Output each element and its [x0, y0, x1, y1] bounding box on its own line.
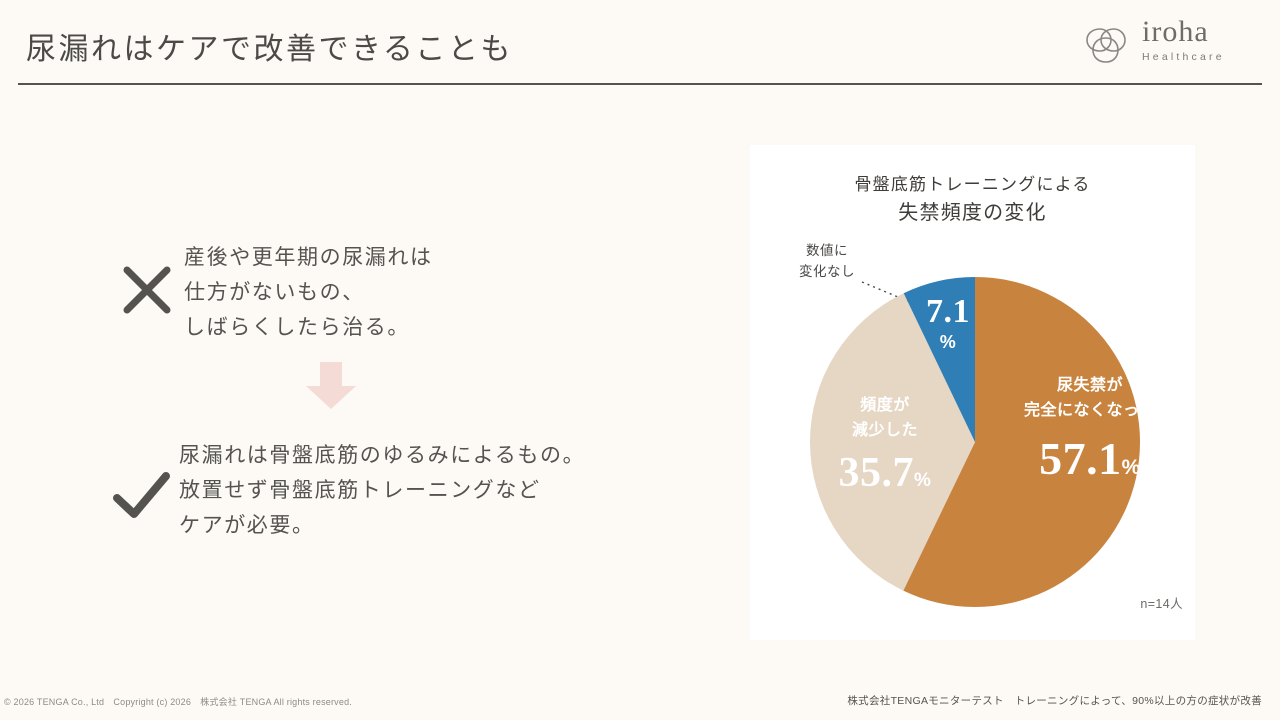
- positive-line-3: ケアが必要。: [179, 508, 585, 543]
- check-mark-icon: [105, 438, 179, 524]
- positive-line-1: 尿漏れは骨盤底筋のゆるみによるもの。: [179, 438, 585, 473]
- pie-label-blue: 7.1 %: [910, 293, 986, 353]
- arrow-down-icon: [302, 362, 360, 410]
- positive-point-block: 尿漏れは骨盤底筋のゆるみによるもの。 放置せず骨盤底筋トレーニングなど ケアが必…: [105, 438, 585, 543]
- positive-line-2: 放置せず骨盤底筋トレーニングなど: [179, 473, 585, 508]
- negative-line-1: 産後や更年期の尿漏れは: [184, 240, 433, 275]
- negative-line-2: 仕方がないもの、: [184, 275, 433, 310]
- orange-value: 57.1: [1039, 433, 1122, 484]
- page-title: 尿漏れはケアで改善できることも: [26, 24, 513, 68]
- cross-mark-icon: [110, 240, 184, 318]
- footer-source-note: 株式会社TENGAモニターテスト トレーニングによって、90%以上の方の症状が改…: [847, 693, 1262, 708]
- logo-word: iroha: [1142, 16, 1260, 48]
- blue-value: 7.1: [910, 293, 986, 331]
- title-divider: [18, 83, 1262, 85]
- negative-line-3: しばらくしたら治る。: [184, 310, 433, 345]
- negative-point-block: 産後や更年期の尿漏れは 仕方がないもの、 しばらくしたら治る。: [110, 240, 433, 345]
- beige-value: 35.7: [839, 450, 915, 496]
- negative-point-text: 産後や更年期の尿漏れは 仕方がないもの、 しばらくしたら治る。: [184, 240, 433, 345]
- orange-caption-2: 完全になくなった: [990, 398, 1190, 423]
- left-content-column: 産後や更年期の尿漏れは 仕方がないもの、 しばらくしたら治る。 尿漏れは骨盤底筋…: [0, 120, 700, 640]
- beige-caption-2: 減少した: [810, 418, 960, 443]
- orange-percent-symbol: %: [1122, 456, 1141, 479]
- logo-subtitle: Healthcare: [1142, 50, 1260, 64]
- sample-size-note: n=14人: [1140, 593, 1183, 612]
- logo-wordmark: iroha Healthcare: [1142, 16, 1260, 64]
- pie-label-beige: 頻度が 減少した 35.7%: [810, 393, 960, 507]
- blue-percent-symbol: %: [910, 331, 986, 353]
- beige-percent-symbol: %: [914, 470, 931, 491]
- beige-caption-1: 頻度が: [810, 393, 960, 418]
- slide-header: 尿漏れはケアで改善できることも iroha Healthcare: [0, 0, 1280, 84]
- brand-logo: iroha Healthcare: [1080, 16, 1260, 72]
- footer-copyright: © 2026 TENGA Co., Ltd Copyright (c) 2026…: [4, 695, 352, 708]
- chart-card: 骨盤底筋トレーニングによる 失禁頻度の変化 数値に 変化なし 尿失禁が 完全にな…: [750, 145, 1195, 640]
- positive-point-text: 尿漏れは骨盤底筋のゆるみによるもの。 放置せず骨盤底筋トレーニングなど ケアが必…: [179, 438, 585, 543]
- iroha-flower-mark-icon: [1080, 20, 1134, 70]
- orange-caption-1: 尿失禁が: [990, 373, 1190, 398]
- pie-label-orange: 尿失禁が 完全になくなった 57.1%: [990, 373, 1190, 496]
